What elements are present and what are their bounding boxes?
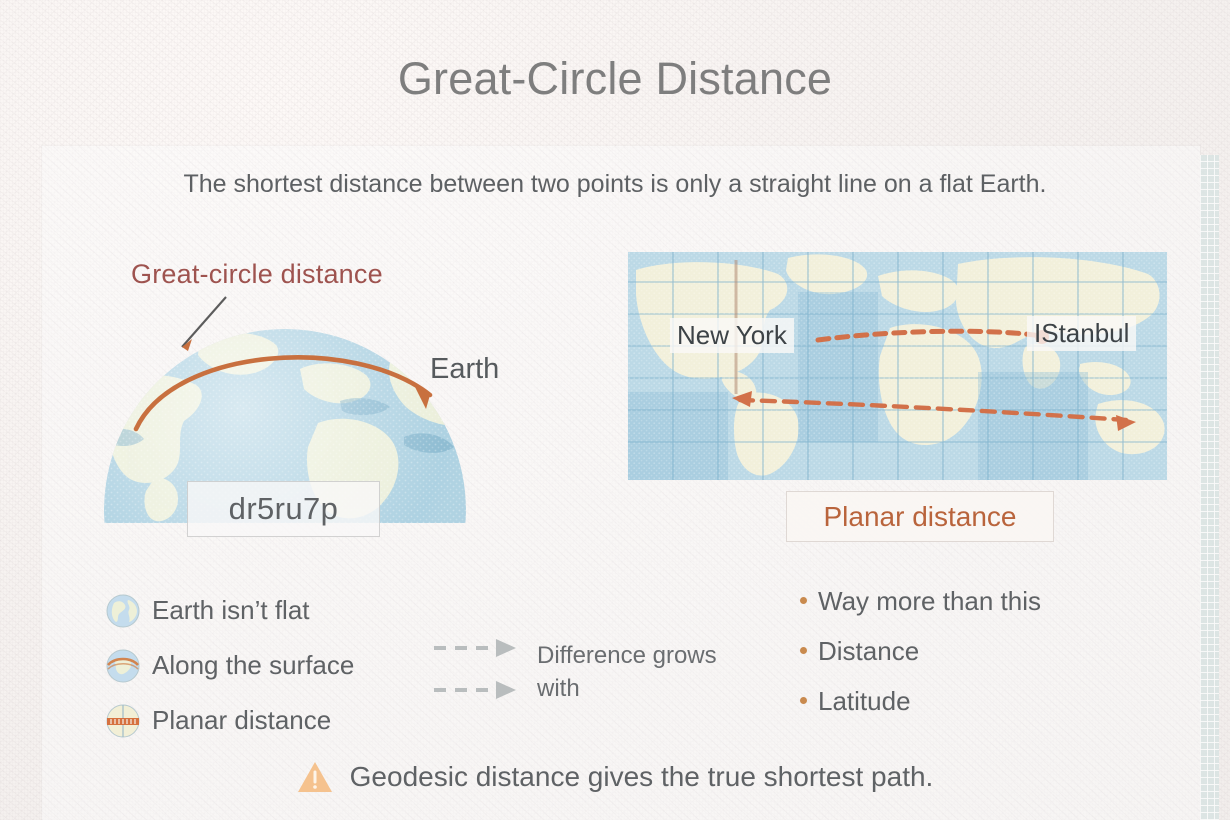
planar-distance-chip: Planar distance bbox=[786, 491, 1054, 542]
footer-callout: Geodesic distance gives the true shortes… bbox=[0, 760, 1230, 794]
list-item-label: Latitude bbox=[818, 686, 911, 717]
globe-americas-icon bbox=[106, 594, 140, 628]
right-feature-list: Way more than this Distance Latitude bbox=[800, 586, 1041, 736]
list-item[interactable]: Latitude bbox=[800, 686, 1041, 736]
list-item-label: Distance bbox=[818, 636, 919, 667]
connector-label: Difference grows with bbox=[537, 639, 722, 705]
list-item-label: Earth isn’t flat bbox=[152, 595, 310, 626]
great-circle-label: Great-circle distance bbox=[131, 259, 383, 290]
subtitle-text: The shortest distance between two points… bbox=[0, 170, 1230, 199]
world-map-panel bbox=[628, 252, 1167, 480]
map-city-istanbul: IStanbul bbox=[1027, 316, 1136, 351]
page-title: Great-Circle Distance bbox=[0, 53, 1230, 105]
left-feature-list: Earth isn’t flat Along the surface Plana… bbox=[106, 583, 354, 748]
right-edge-strip[interactable] bbox=[1200, 155, 1219, 820]
connector-arrows bbox=[432, 638, 518, 700]
dashed-arrow-icon bbox=[432, 680, 518, 700]
list-item[interactable]: Way more than this bbox=[800, 586, 1041, 636]
list-item[interactable]: Along the surface bbox=[106, 638, 354, 693]
list-item-label: Planar distance bbox=[152, 705, 331, 736]
list-item-label: Way more than this bbox=[818, 586, 1041, 617]
geohash-chip: dr5ru7p bbox=[187, 481, 380, 537]
map-city-new-york: New York bbox=[670, 318, 794, 353]
warning-triangle-icon bbox=[297, 760, 333, 794]
globe-ruler-icon bbox=[106, 704, 140, 738]
globe-arc-icon bbox=[106, 649, 140, 683]
footer-text: Geodesic distance gives the true shortes… bbox=[350, 761, 934, 793]
bullet-dot-icon bbox=[800, 597, 807, 604]
list-item[interactable]: Earth isn’t flat bbox=[106, 583, 354, 638]
dashed-arrow-icon bbox=[432, 638, 518, 658]
list-item[interactable]: Planar distance bbox=[106, 693, 354, 748]
list-item[interactable]: Distance bbox=[800, 636, 1041, 686]
bullet-dot-icon bbox=[800, 647, 807, 654]
list-item-label: Along the surface bbox=[152, 650, 354, 681]
bullet-dot-icon bbox=[800, 697, 807, 704]
